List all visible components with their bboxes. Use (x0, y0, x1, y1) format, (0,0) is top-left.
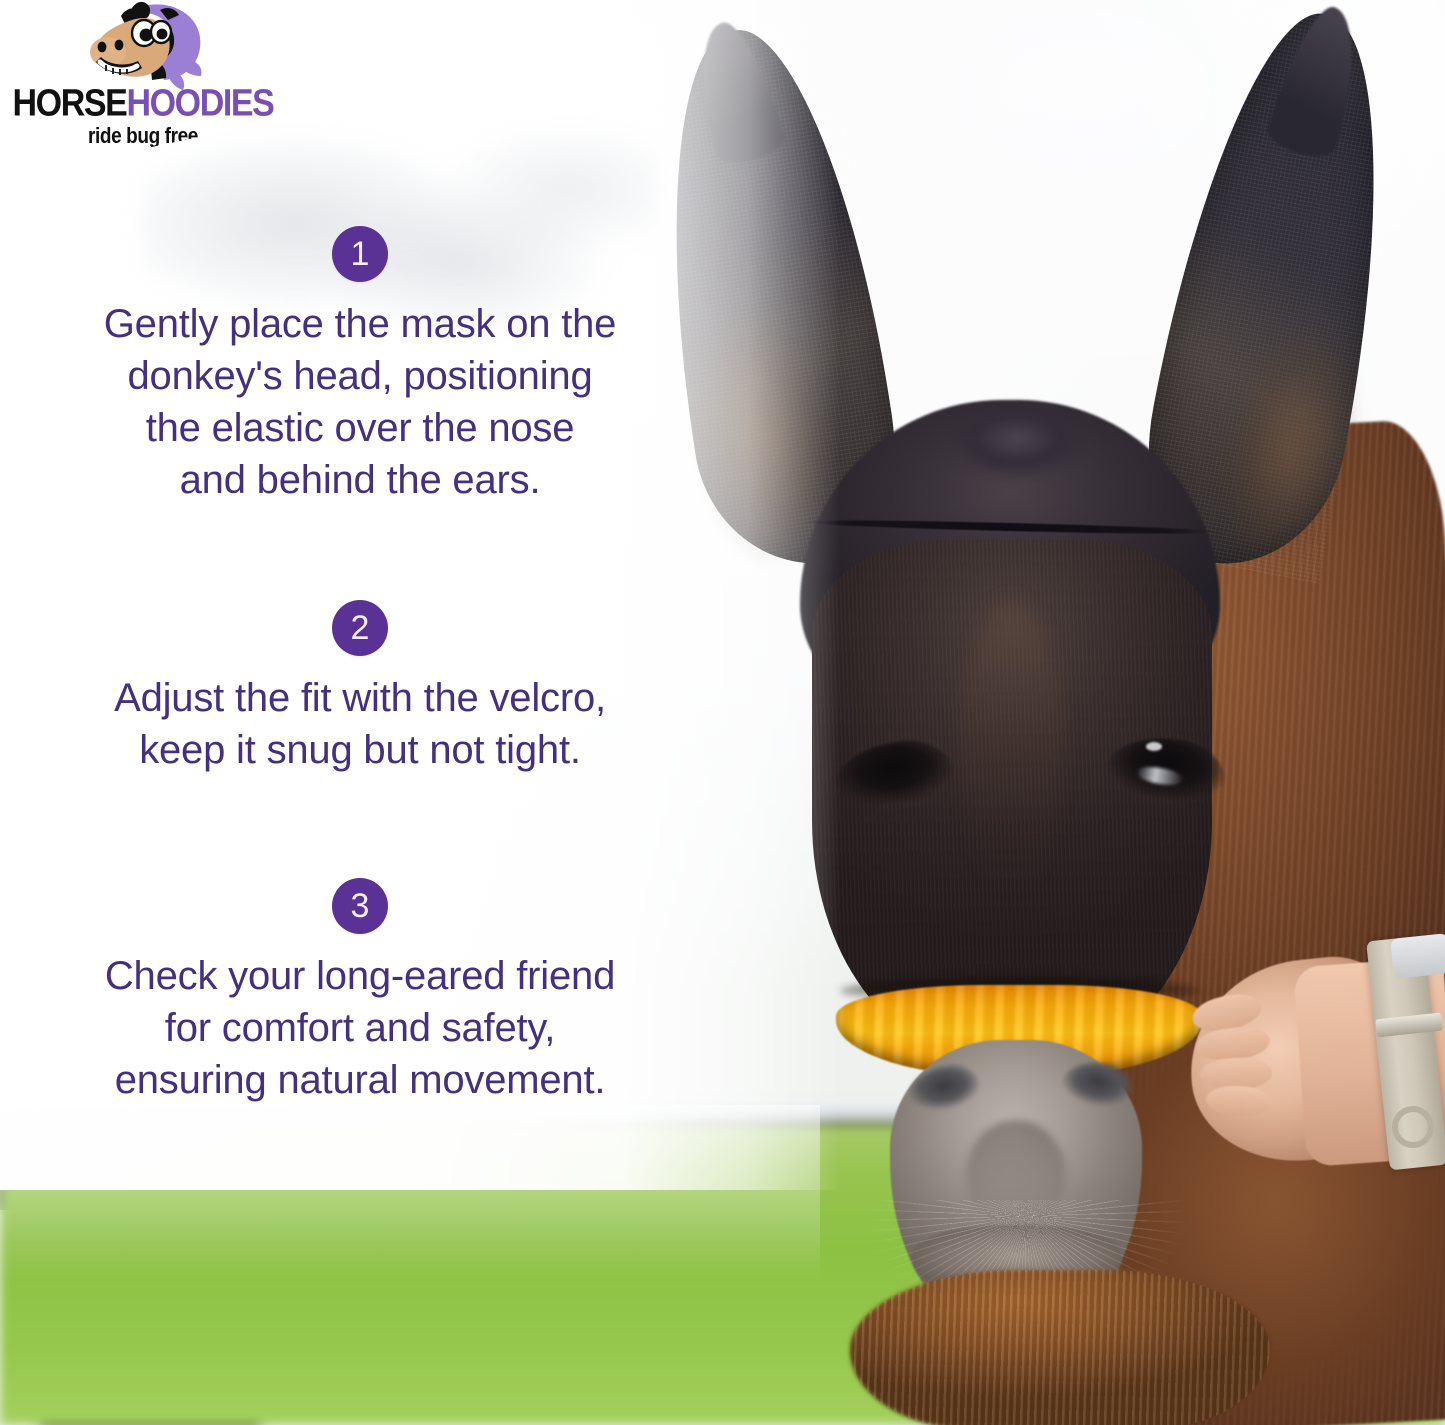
instruction-steps: 1 Gently place the mask on the donkey's … (20, 0, 700, 1425)
step-3-badge: 3 (332, 878, 388, 934)
nose-bridge (960, 600, 1064, 900)
step-2-text: Adjust the fit with the velcro, keep it … (20, 672, 700, 776)
watch-face (1390, 933, 1445, 979)
chin-fur-texture (850, 1270, 1270, 1425)
step-2-badge: 2 (332, 600, 388, 656)
step-3: 3 Check your long-eared friend for comfo… (20, 878, 700, 1106)
instruction-infographic: HORSEHOODIES ride bug free 1 Gently plac… (0, 0, 1445, 1425)
mask-poll-seam (952, 400, 1082, 478)
step-1-badge: 1 (332, 226, 388, 282)
step-1: 1 Gently place the mask on the donkey's … (20, 226, 700, 506)
step-1-text: Gently place the mask on the donkey's he… (20, 298, 700, 506)
eye-glint (1146, 742, 1162, 751)
step-2: 2 Adjust the fit with the velcro, keep i… (20, 600, 700, 776)
step-3-text: Check your long-eared friend for comfort… (20, 950, 700, 1106)
